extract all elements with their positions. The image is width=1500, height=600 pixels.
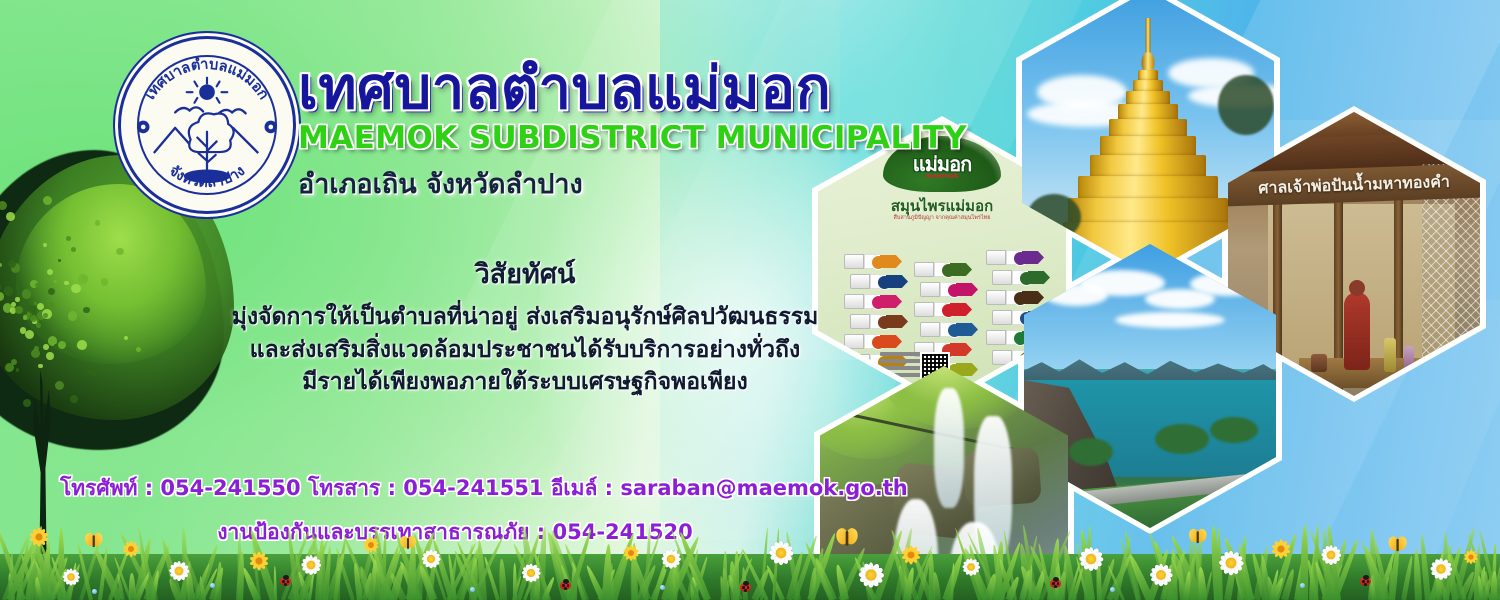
vision-statement: วิสัยทัศน์ มุ่งจัดการให้เป็นตำบลที่น่าอย… [180, 252, 870, 399]
page-subtitle: อำเภอเถิน จังหวัดลำปาง [298, 162, 918, 205]
yellow-flower [1268, 536, 1294, 562]
vision-line-3: มีรายได้เพียงพอภายใต้ระบบเศรษฐกิจพอเพียง [180, 366, 870, 399]
tree-leaf [66, 236, 71, 241]
dew-drop [470, 587, 475, 592]
tree-leaf [101, 278, 109, 286]
white-daisy-flower [1076, 544, 1105, 573]
white-daisy-flower [1147, 561, 1174, 588]
ladybug-icon [1360, 577, 1371, 586]
bush [1069, 438, 1113, 466]
herb-product-item [986, 250, 1044, 265]
tree-leaf [71, 247, 76, 252]
ladybug-icon [280, 577, 291, 586]
shrine-offering [1311, 354, 1327, 372]
white-daisy-flower [61, 567, 82, 588]
vision-line-2: และส่งเสริมสิ่งแวดล้อมประชาชนได้รับบริกา… [180, 334, 870, 367]
tree-leaf [46, 352, 54, 360]
municipality-seal[interactable]: เทศบาลตำบลแม่มอก จังหวัดลำปาง [118, 36, 296, 214]
dew-drop [92, 589, 97, 594]
ladybug-icon [740, 583, 751, 592]
shrine-sign-text: ศาลเจ้าพ่อปันน้ำมหาทองคำ [1258, 169, 1450, 201]
contact-line-phone-fax-email[interactable]: โทรศัพท์ : 054-241550 โทรสาร : 054-24155… [60, 472, 850, 505]
shrine-guardian-statue [1344, 292, 1370, 370]
tree-leaf [68, 311, 77, 320]
white-daisy-flower [1216, 548, 1246, 578]
white-daisy-flower [420, 548, 443, 571]
herb-product-item [914, 302, 972, 317]
tree-leaf [22, 289, 32, 299]
herb-product-item [986, 290, 1044, 305]
grass-footer [0, 510, 1500, 600]
white-daisy-flower [299, 553, 323, 577]
yellow-flower [1461, 547, 1481, 567]
white-daisy-flower [1319, 543, 1343, 567]
seal-tree-icon [189, 113, 234, 174]
tree-leaf [83, 307, 89, 313]
yellow-flower [246, 548, 272, 574]
pagoda-caption-line2: บ้านกุ่ม [1230, 15, 1268, 28]
tree-leaf [15, 297, 20, 302]
tree-leaf [116, 248, 123, 255]
herb-product-item [920, 282, 978, 297]
white-daisy-flower [659, 547, 682, 570]
shrine-offering [1384, 338, 1396, 372]
seal-sun-icon [187, 78, 228, 103]
white-daisy-flower [960, 556, 981, 577]
yellow-butterfly-icon [1389, 537, 1414, 562]
tree-leaf [43, 344, 49, 350]
herb-logo-subtext: maemok [925, 172, 959, 180]
yellow-butterfly-icon [836, 528, 865, 557]
tree-leaf [36, 323, 41, 328]
tree-silhouette [1218, 75, 1274, 135]
waterfall-stream [934, 388, 964, 508]
dew-drop [1110, 587, 1115, 592]
tree-leaf [25, 330, 34, 339]
dew-drop [660, 585, 665, 590]
pagoda-caption-line1: วัดพระ [1230, 0, 1268, 15]
tree-leaf [64, 281, 69, 286]
tree-leaf [15, 306, 23, 314]
tree-leaf [35, 283, 39, 287]
headline-block: เทศบาลตำบลแม่มอก MAEMOK SUBDISTRICT MUNI… [298, 58, 918, 205]
cloud [1115, 312, 1225, 328]
herb-product-item [920, 322, 978, 337]
ladybug-icon [1050, 579, 1061, 588]
tree-leaf [82, 276, 87, 281]
tree-leaf [8, 260, 16, 268]
white-daisy-flower [520, 562, 543, 585]
tree-leaf [54, 280, 57, 283]
yellow-butterfly-icon [400, 536, 422, 558]
tree-leaf [48, 288, 55, 295]
yellow-flower [120, 538, 143, 561]
tree-leaf [37, 303, 44, 310]
yellow-flower [360, 534, 382, 556]
page-title-english: MAEMOK SUBDISTRICT MUNICIPALITY [298, 120, 918, 156]
yellow-flower [620, 542, 642, 564]
vision-heading: วิสัยทัศน์ [180, 252, 870, 295]
white-daisy-flower [1428, 556, 1454, 582]
ladybug-icon [560, 581, 571, 590]
yellow-butterfly-icon [85, 533, 109, 557]
yellow-flower [26, 524, 52, 550]
vision-line-1: มุ่งจัดการให้เป็นตำบลที่น่าอยู่ ส่งเสริม… [180, 301, 870, 334]
white-daisy-flower [766, 538, 795, 567]
herb-product-item [914, 262, 972, 277]
tree-leaf [23, 315, 28, 320]
herb-product-item [992, 270, 1050, 285]
page-title-thai: เทศบาลตำบลแม่มอก [298, 58, 918, 118]
tree-leaf [90, 368, 98, 376]
yellow-flower [898, 542, 924, 568]
golden-chedi [1063, 18, 1233, 268]
dew-drop [210, 583, 215, 588]
bush [1210, 417, 1258, 443]
tree-leaf [43, 313, 48, 318]
herb-poster-subtitle: สืบสานภูมิปัญญา จากคุณค่าสมุนไพรไทย [894, 214, 991, 222]
tree-leaf [38, 364, 43, 369]
white-daisy-flower [167, 559, 191, 583]
yellow-butterfly-icon [1189, 529, 1213, 553]
bush [1155, 424, 1209, 454]
dew-drop [1300, 583, 1305, 588]
municipality-banner: แม่มอก maemok สมุนไพรแม่มอก สืบสานภูมิปั… [0, 0, 1500, 600]
tree-leaf [58, 341, 66, 349]
white-daisy-flower [856, 560, 887, 591]
tree-leaf [77, 340, 87, 350]
